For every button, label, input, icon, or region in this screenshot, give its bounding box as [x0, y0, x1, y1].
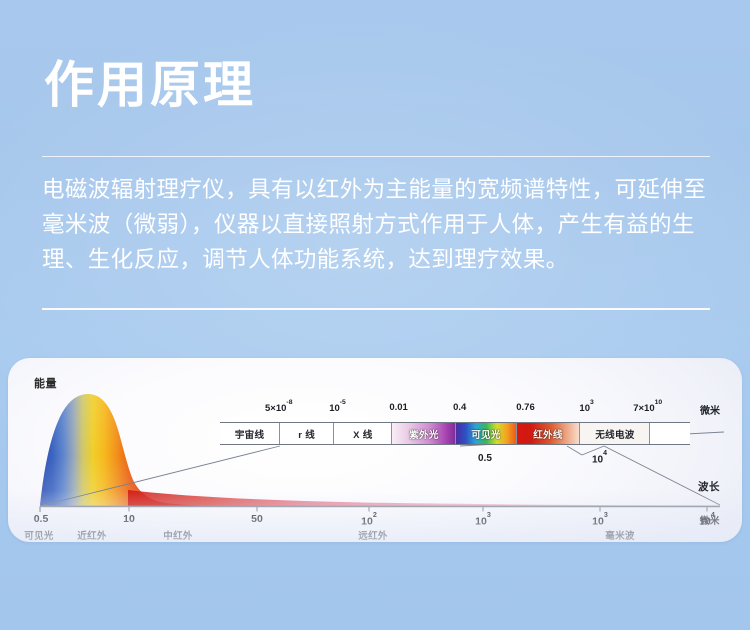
bottom-tick-0: 0.5 — [34, 513, 49, 525]
bottom-tick-3: 102 — [361, 513, 377, 528]
divider-top — [42, 156, 710, 157]
band-label: 宇宙线 — [235, 427, 264, 441]
band-cosmic-ray: 宇宙线 — [220, 423, 280, 444]
spectrum-band-strip: 宇宙线 r 线 X 线 紫外光 可见光 红外线 无线电波 — [220, 422, 690, 445]
callout-visible-0point5: 0.5 — [478, 453, 492, 464]
bottom-tick-2: 50 — [251, 513, 263, 525]
y-axis-label: 能量 — [34, 375, 57, 391]
band-label: 红外线 — [533, 427, 562, 441]
chart-inner: 能量 5×10-8 10-5 0.01 0.4 0.76 103 7×1010 … — [8, 358, 742, 542]
intro-paragraph: 电磁波辐射理疗仪，具有以红外为主能量的宽频谱特性，可延伸至毫米波（微弱），仪器以… — [42, 172, 714, 277]
region-label-visible: 可见光 — [24, 528, 53, 542]
page-title: 作用原理 — [44, 56, 256, 114]
band-visible-light: 可见光 — [456, 423, 516, 444]
spectrum-chart-panel: 能量 5×10-8 10-5 0.01 0.4 0.76 103 7×1010 … — [8, 358, 742, 542]
x-axis-unit: 微米 — [700, 513, 720, 527]
divider-bottom — [42, 308, 710, 310]
top-axis-ticks: 5×10-8 10-5 0.01 0.4 0.76 103 7×1010 — [220, 402, 690, 418]
region-label-mid-infrared: 中红外 — [163, 528, 192, 542]
top-tick-2: 0.01 — [389, 402, 408, 413]
band-label: 无线电波 — [595, 427, 634, 441]
band-label: r 线 — [298, 427, 315, 441]
top-tick-6: 7×1010 — [633, 402, 662, 414]
band-infrared: 红外线 — [517, 423, 581, 444]
bottom-tick-4: 103 — [475, 513, 491, 528]
bottom-tick-1: 10 — [123, 513, 135, 525]
region-label-millimeter-wave: 毫米波 — [605, 528, 634, 542]
band-label: X 线 — [353, 427, 372, 441]
callout-radio-1e4: 104 — [592, 453, 607, 465]
page-root: 作用原理 电磁波辐射理疗仪，具有以红外为主能量的宽频谱特性，可延伸至毫米波（微弱… — [0, 0, 750, 630]
band-ultraviolet: 紫外光 — [392, 423, 456, 444]
band-blank — [650, 423, 689, 444]
top-tick-4: 0.76 — [516, 402, 535, 413]
band-label: 可见光 — [471, 427, 500, 441]
top-tick-1: 10-5 — [329, 402, 346, 414]
band-gamma-ray: r 线 — [280, 423, 334, 444]
region-label-far-infrared: 远红外 — [358, 528, 387, 542]
band-label: 紫外光 — [409, 427, 438, 441]
top-tick-3: 0.4 — [453, 402, 466, 413]
bottom-tick-5: 103 — [592, 513, 608, 528]
band-x-ray: X 线 — [334, 423, 392, 444]
region-label-near-infrared: 近红外 — [77, 528, 106, 542]
top-tick-5: 103 — [579, 402, 593, 414]
top-axis-unit: 微米 — [700, 402, 720, 417]
x-axis-caption: 波长 — [698, 479, 720, 494]
band-radio-wave: 无线电波 — [580, 423, 650, 444]
top-tick-0: 5×10-8 — [265, 402, 292, 414]
